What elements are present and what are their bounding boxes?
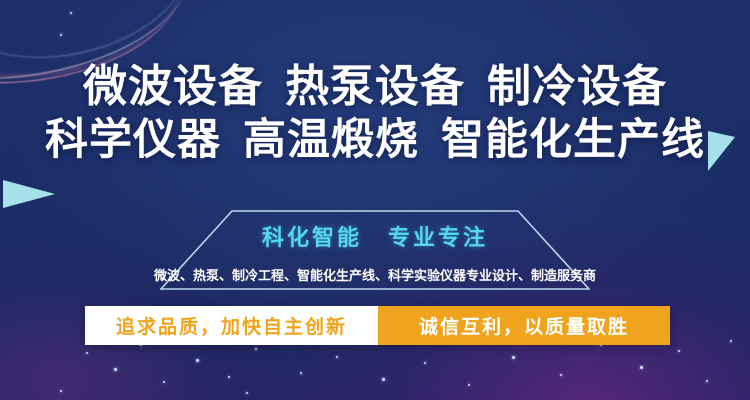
slogan-right[interactable]: 诚信互利，以质量取胜 xyxy=(378,306,670,345)
slogan-left[interactable]: 追求品质，加快自主创新 xyxy=(85,306,378,345)
triangle-right-icon xyxy=(3,180,55,208)
headline-block: 微波设备热泵设备制冷设备 科学仪器高温煅烧智能化生产线 xyxy=(0,64,750,163)
headline-word-microwave: 微波设备 xyxy=(83,62,263,111)
headline-word-instruments: 科学仪器 xyxy=(45,116,221,164)
headline-line-1: 微波设备热泵设备制冷设备 xyxy=(0,64,750,111)
subtitle-description: 微波、热泵、制冷工程、智能化生产线、科学实验仪器专业设计、制造服务商 xyxy=(0,265,750,284)
slogan-bar-group: 追求品质，加快自主创新 诚信互利，以质量取胜 xyxy=(85,306,670,345)
subtitle-cyan-left: 科化智能 xyxy=(262,225,362,250)
headline-line-2: 科学仪器高温煅烧智能化生产线 xyxy=(0,118,750,164)
headline-word-heatpump: 热泵设备 xyxy=(285,62,465,111)
subtitle-cyan: 科化智能专业专注 xyxy=(0,220,750,252)
headline-word-production-line: 智能化生产线 xyxy=(441,116,705,164)
subtitle-cyan-right: 专业专注 xyxy=(388,225,488,250)
headline-word-calcination: 高温煅烧 xyxy=(243,116,419,164)
promotional-banner: 微波设备热泵设备制冷设备 科学仪器高温煅烧智能化生产线 科化智能专业专注 微波、… xyxy=(0,0,750,400)
headline-word-refrigeration: 制冷设备 xyxy=(487,62,667,111)
